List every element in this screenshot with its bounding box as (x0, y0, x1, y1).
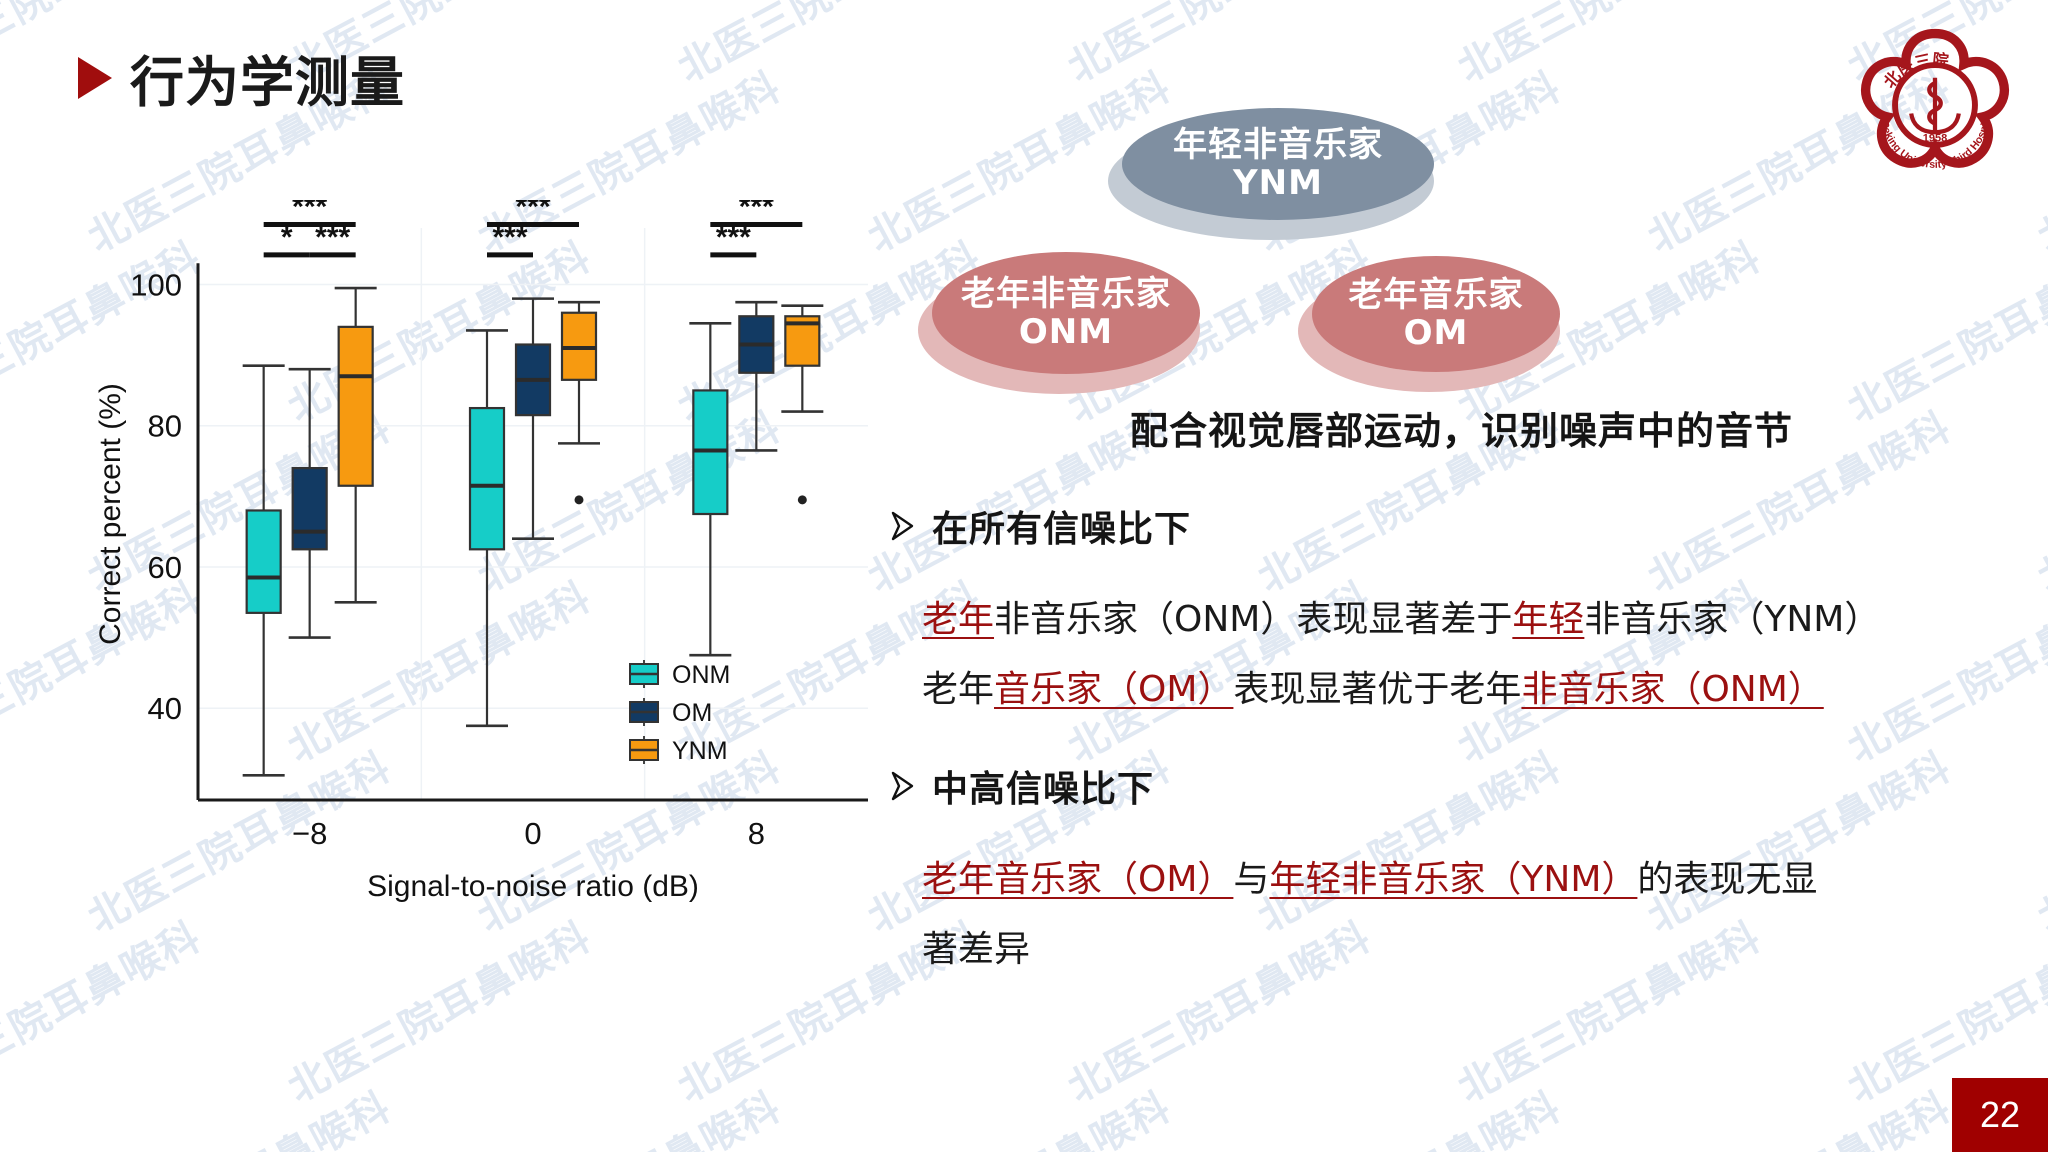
watermark-text: 北医三院耳鼻喉科 (1636, 1075, 1960, 1152)
watermark-text: 北医三院耳鼻喉科 (1246, 735, 1570, 944)
plain-text: 非音乐家（YNM） (1584, 599, 1880, 640)
boxplot-chart: ******************* 406080100−808 ONMOMY… (90, 200, 880, 960)
boxplot-box (243, 366, 285, 776)
y-axis-title: Correct percent (%) (94, 383, 127, 645)
section-1-line-1: 著差异 (922, 920, 1030, 972)
significance-label: *** (315, 221, 350, 254)
significance-label: * (281, 221, 293, 254)
legend-label: ONM (672, 661, 730, 689)
hospital-logo: 1958 Peking University Third Hospital 北医… (1850, 20, 2020, 190)
x-tick-label: 0 (524, 816, 541, 851)
section-heading-text: 在所有信噪比下 (932, 500, 1191, 552)
legend-label: YNM (672, 737, 728, 765)
bubble-label-en-om: OM (1404, 314, 1469, 352)
significance-bracket: *** (487, 221, 533, 255)
section-1-line-0: 老年音乐家（OM）与年轻非音乐家（YNM）的表现无显 (922, 850, 1817, 902)
chevron-right-icon (890, 511, 916, 541)
bubble-om: 老年音乐家OM (1312, 256, 1560, 372)
section-0-line-1: 老年音乐家（OM）表现显著优于老年非音乐家（ONM） (922, 660, 1824, 712)
logo-svg: 1958 Peking University Third Hospital 北医… (1850, 20, 2020, 190)
watermark-text: 北医三院耳鼻喉科 (856, 1075, 1180, 1152)
x-tick-label: 8 (748, 816, 765, 851)
box-rect (470, 408, 504, 549)
slide-root: 北医三院耳鼻喉科北医三院耳鼻喉科北医三院耳鼻喉科北医三院耳鼻喉科北医三院耳鼻喉科… (0, 0, 2048, 1152)
plain-text: 老年 (922, 669, 994, 710)
legend-item[interactable]: YNM (630, 736, 728, 765)
legend-item[interactable]: OM (630, 698, 712, 727)
plain-text: 与 (1233, 859, 1269, 900)
highlighted-text: 老年音乐家（OM） (922, 859, 1233, 900)
bubble-label-cn-ynm: 年轻非音乐家 (1173, 126, 1383, 164)
plain-text: 著差异 (922, 929, 1030, 970)
chart-boxes (243, 288, 824, 775)
bubble-ynm: 年轻非音乐家YNM (1122, 108, 1434, 220)
watermark-text: 北医三院耳鼻喉科 (1836, 225, 2048, 434)
watermark-text: 北医三院耳鼻喉科 (1056, 0, 1380, 93)
highlighted-text: 老年 (922, 599, 994, 640)
boxplot-box (781, 306, 823, 505)
legend-item[interactable]: ONM (630, 660, 730, 689)
logo-cn-text: 北医三院 (1880, 50, 1950, 92)
box-rect (247, 510, 281, 612)
plain-text: 非音乐家（ONM）表现显著差于 (994, 599, 1512, 640)
right-headline: 配合视觉唇部运动，识别噪声中的音节 (1130, 400, 1793, 455)
chart-significance: ******************* (264, 200, 803, 255)
watermark-text: 北医三院耳鼻喉科 (76, 1075, 400, 1152)
watermark-text: 北医三院耳鼻喉科 (2026, 395, 2048, 604)
boxplot-box (289, 369, 331, 637)
watermark-text: 北医三院耳鼻喉科 (0, 395, 10, 604)
highlighted-text: 非音乐家（ONM） (1521, 669, 1823, 710)
significance-label: *** (492, 221, 527, 254)
bubble-label-en-onm: ONM (1019, 313, 1113, 351)
box-rect (293, 468, 327, 549)
bubble-label-en-ynm: YNM (1233, 164, 1323, 202)
watermark-text: 北医三院耳鼻喉科 (1056, 905, 1380, 1114)
slide-title-row: 行为学测量 (78, 38, 405, 117)
boxplot-box (689, 323, 731, 655)
outlier-point (798, 495, 807, 504)
plain-text: 表现显著优于老年 (1233, 669, 1521, 710)
highlighted-text: 年轻非音乐家（YNM） (1269, 859, 1637, 900)
outlier-point (575, 495, 584, 504)
watermark-text: 北医三院耳鼻喉科 (0, 1075, 10, 1152)
page-number-badge: 22 (1952, 1078, 2048, 1152)
x-axis-title: Signal-to-noise ratio (dB) (367, 870, 699, 903)
chevron-right-icon (890, 771, 916, 801)
section-heading-text: 中高信噪比下 (932, 760, 1154, 812)
highlighted-text: 音乐家（OM） (994, 669, 1233, 710)
chart-legend[interactable]: ONMOMYNM (630, 660, 730, 765)
y-tick-label: 60 (148, 550, 182, 585)
plain-text: 的表现无显 (1637, 859, 1817, 900)
boxplot-box (735, 302, 777, 450)
significance-label: *** (716, 221, 751, 254)
bubble-label-cn-om: 老年音乐家 (1349, 276, 1524, 314)
logo-year: 1958 (1923, 133, 1948, 145)
section-heading-1: 中高信噪比下 (890, 760, 1154, 812)
watermark-text: 北医三院耳鼻喉科 (1246, 1075, 1570, 1152)
bubble-onm: 老年非音乐家ONM (932, 252, 1200, 374)
bubble-label-cn-onm: 老年非音乐家 (961, 275, 1171, 313)
watermark-text: 北医三院耳鼻喉科 (666, 0, 990, 93)
watermark-text: 北医三院耳鼻喉科 (466, 1075, 790, 1152)
x-tick-label: −8 (292, 816, 327, 851)
highlighted-text: 年轻 (1512, 599, 1584, 640)
section-heading-0: 在所有信噪比下 (890, 500, 1191, 552)
boxplot-box (558, 302, 600, 504)
boxplot-box (466, 330, 508, 725)
y-tick-label: 40 (148, 691, 182, 726)
page-title: 行为学测量 (130, 38, 405, 117)
triangle-bullet-icon (78, 57, 112, 99)
watermark-text: 北医三院耳鼻喉科 (1636, 735, 1960, 944)
legend-label: OM (672, 699, 712, 727)
boxplot-svg: ******************* 406080100−808 ONMOMY… (90, 200, 880, 960)
chart-tick-labels: 406080100−808 (130, 267, 765, 851)
box-rect (339, 327, 373, 486)
significance-bracket: *** (310, 221, 356, 255)
watermark-text: 北医三院耳鼻喉科 (2026, 735, 2048, 944)
boxplot-box (512, 299, 554, 539)
watermark-text: 北医三院耳鼻喉科 (0, 55, 10, 264)
watermark-text: 北医三院耳鼻喉科 (2026, 55, 2048, 264)
watermark-text: 北医三院耳鼻喉科 (1446, 0, 1770, 93)
boxplot-box (335, 288, 377, 602)
significance-bracket: *** (710, 221, 756, 255)
y-tick-label: 100 (130, 267, 182, 302)
watermark-text: 北医三院耳鼻喉科 (0, 735, 10, 944)
chart-axis-titles: Signal-to-noise ratio (dB)Correct percen… (94, 383, 699, 903)
y-tick-label: 80 (148, 409, 182, 444)
watermark-text: 北医三院耳鼻喉科 (1446, 905, 1770, 1114)
section-0-line-0: 老年非音乐家（ONM）表现显著差于年轻非音乐家（YNM） (922, 590, 1880, 642)
